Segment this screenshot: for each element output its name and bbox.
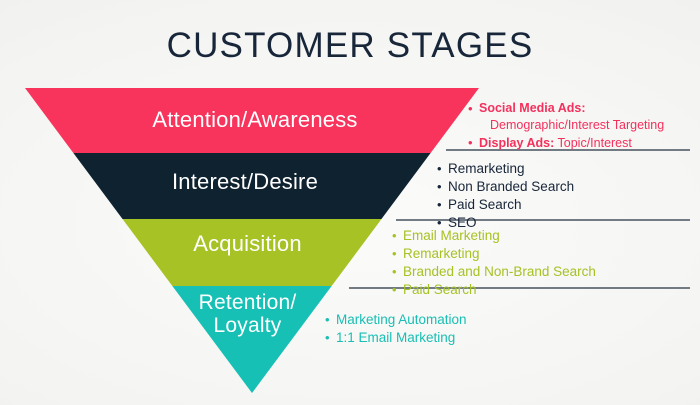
annotation-item-text: Remarketing bbox=[448, 161, 525, 176]
annotation-item-text: Paid Search bbox=[403, 282, 477, 297]
annotation-item: Display Ads: Topic/Interest bbox=[468, 135, 664, 152]
annotation-item: Paid Search bbox=[392, 281, 596, 299]
annotation-item-text: Marketing Automation bbox=[336, 312, 467, 327]
annotation-item: Demographic/Interest Targeting bbox=[468, 117, 664, 134]
annotation-item-text: Demographic/Interest Targeting bbox=[490, 118, 664, 132]
annotation-item: Paid Search bbox=[437, 196, 574, 214]
annotation-item-text: Paid Search bbox=[448, 197, 522, 212]
annotations-retention: Marketing Automation1:1 Email Marketing bbox=[325, 311, 467, 347]
annotations-attention: Social Media Ads:Demographic/Interest Ta… bbox=[468, 100, 664, 152]
annotation-item: Remarketing bbox=[437, 160, 574, 178]
annotation-item-text: Remarketing bbox=[403, 246, 480, 261]
annotation-item: Social Media Ads: bbox=[468, 100, 664, 117]
annotation-list-acquisition: Email MarketingRemarketingBranded and No… bbox=[392, 227, 596, 299]
annotation-item: Email Marketing bbox=[392, 227, 596, 245]
annotation-item-strong: Social Media Ads: bbox=[479, 101, 586, 115]
annotation-item: Branded and Non-Brand Search bbox=[392, 263, 596, 281]
annotation-item: Marketing Automation bbox=[325, 311, 467, 329]
annotation-list-retention: Marketing Automation1:1 Email Marketing bbox=[325, 311, 467, 347]
annotation-list-attention: Social Media Ads:Demographic/Interest Ta… bbox=[468, 100, 664, 152]
annotation-item: Remarketing bbox=[392, 245, 596, 263]
annotation-item-text: Topic/Interest bbox=[554, 136, 632, 150]
annotation-item: 1:1 Email Marketing bbox=[325, 329, 467, 347]
annotation-item-strong: Display Ads: bbox=[479, 136, 554, 150]
annotation-item-text: Non Branded Search bbox=[448, 179, 574, 194]
annotation-list-interest: RemarketingNon Branded SearchPaid Search… bbox=[437, 160, 574, 232]
annotation-item-text: 1:1 Email Marketing bbox=[336, 330, 455, 345]
annotations-acquisition: Email MarketingRemarketingBranded and No… bbox=[392, 227, 596, 299]
annotation-item: Non Branded Search bbox=[437, 178, 574, 196]
annotation-item-text: Email Marketing bbox=[403, 228, 500, 243]
funnel-segment-interest bbox=[0, 153, 700, 219]
annotation-item-text: Branded and Non-Brand Search bbox=[403, 264, 596, 279]
annotations-interest: RemarketingNon Branded SearchPaid Search… bbox=[437, 160, 574, 232]
slide-canvas: CUSTOMER STAGES Attention/Awareness Inte… bbox=[0, 0, 700, 405]
